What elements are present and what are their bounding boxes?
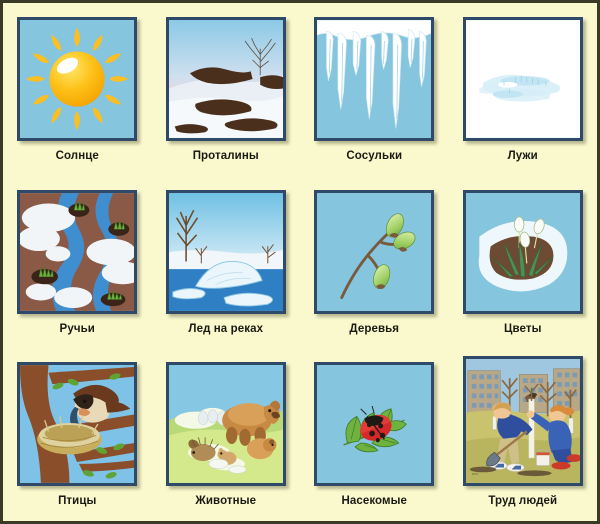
cell-flowers: Цветы	[449, 176, 598, 349]
card-thaw[interactable]	[166, 17, 286, 141]
ladybug-illustration	[317, 365, 431, 483]
card-animals[interactable]	[166, 362, 286, 486]
card-label-flowers: Цветы	[504, 323, 542, 335]
card-label-insects: Насекомые	[341, 495, 407, 507]
card-birds[interactable]	[17, 362, 137, 486]
card-labor[interactable]: илл.	[463, 356, 583, 486]
card-flowers[interactable]	[463, 190, 583, 314]
card-label-birds: Птицы	[58, 495, 96, 507]
cell-thaw: Проталины	[152, 3, 301, 176]
card-insects[interactable]	[314, 362, 434, 486]
card-label-icicles: Сосульки	[346, 150, 402, 162]
icicles-illustration	[317, 20, 431, 138]
cell-trees: Деревья	[300, 176, 449, 349]
cell-puddles: Лужи	[449, 3, 598, 176]
cell-riverice: Лед на реках	[152, 176, 301, 349]
card-label-labor: Труд людей	[488, 495, 557, 507]
snowdrops-illustration	[466, 193, 580, 311]
card-label-trees: Деревья	[349, 323, 399, 335]
cell-labor: илл. Труд людей	[449, 348, 598, 521]
card-sun[interactable]	[17, 17, 137, 141]
card-streams[interactable]	[17, 190, 137, 314]
card-riverice[interactable]	[166, 190, 286, 314]
cell-animals: Животные	[152, 348, 301, 521]
card-icicles[interactable]	[314, 17, 434, 141]
svg-text:илл.: илл.	[471, 472, 479, 476]
bears-illustration	[169, 365, 283, 483]
puddles-illustration	[466, 20, 580, 138]
cell-streams: Ручьи	[3, 176, 152, 349]
card-puddles[interactable]	[463, 17, 583, 141]
thawed-patches-illustration	[169, 20, 283, 138]
card-trees[interactable]	[314, 190, 434, 314]
sun-illustration	[20, 20, 134, 138]
tree-buds-illustration	[317, 193, 431, 311]
card-label-sun: Солнце	[56, 150, 99, 162]
card-label-thaw: Проталины	[193, 150, 259, 162]
card-label-animals: Животные	[195, 495, 256, 507]
people-planting-illustration: илл.	[466, 359, 580, 483]
streams-illustration	[20, 193, 134, 311]
spring-signs-poster: Солнце	[0, 0, 600, 524]
cell-sun: Солнце	[3, 3, 152, 176]
card-label-streams: Ручьи	[60, 323, 95, 335]
bird-nest-illustration	[20, 365, 134, 483]
cell-birds: Птицы	[3, 348, 152, 521]
river-ice-illustration	[169, 193, 283, 311]
cell-insects: Насекомые	[300, 348, 449, 521]
card-label-puddles: Лужи	[508, 150, 538, 162]
card-label-riverice: Лед на реках	[188, 323, 263, 335]
cell-icicles: Сосульки	[300, 3, 449, 176]
cards-grid: Солнце	[3, 3, 597, 521]
